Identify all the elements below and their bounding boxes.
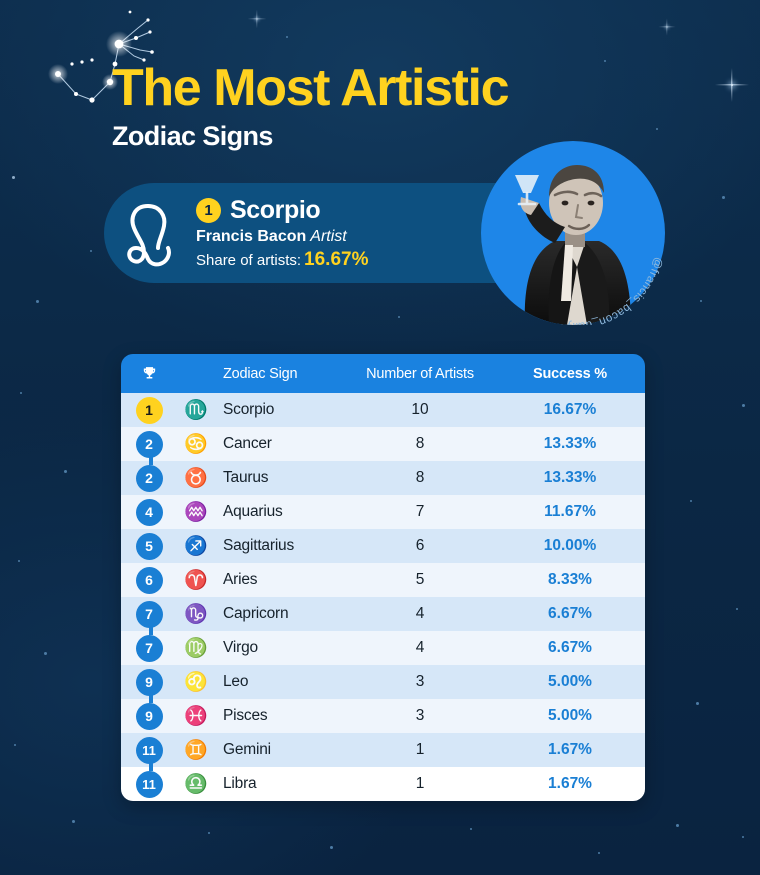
table-row[interactable]: 5♐Sagittarius610.00% [121,529,645,563]
pisces-glyph-icon: ♓ [177,707,215,726]
artist-count-cell: 3 [345,673,495,691]
rank-badge: 2 [136,465,163,492]
rank-badge: 5 [136,533,163,560]
scorpio-glyph-icon: ♏ [177,401,215,420]
aries-glyph-icon: ♈ [177,571,215,590]
success-pct-cell: 16.67% [495,401,645,419]
rank-cell: 2 [121,465,177,492]
taurus-glyph-icon: ♉ [177,469,215,488]
sign-name-cell: Aquarius [215,503,345,521]
artist-count-cell: 8 [345,435,495,453]
rank-badge: 2 [136,431,163,458]
rank-cell: 9 [121,669,177,696]
table-row[interactable]: 11♊Gemini11.67% [121,733,645,767]
sagittarius-glyph-icon: ♐ [177,537,215,556]
sign-name-cell: Virgo [215,639,345,657]
sign-name-cell: Taurus [215,469,345,487]
success-pct-cell: 5.00% [495,673,645,691]
cancer-glyph-icon: ♋ [177,435,215,454]
virgo-glyph-icon: ♍ [177,639,215,658]
rank-badge: 9 [136,669,163,696]
page-subtitle: Zodiac Signs [112,121,508,152]
tie-connector [149,763,153,771]
rank-badge: 4 [136,499,163,526]
page-header: The Most Artistic Zodiac Signs [112,62,508,152]
table-row[interactable]: 4♒Aquarius711.67% [121,495,645,529]
rank-cell: 7 [121,601,177,628]
aquarius-glyph-icon: ♒ [177,503,215,522]
rank-cell: 1 [121,397,177,424]
libra-glyph-icon: ♎ [177,775,215,794]
rank-badge: 7 [136,635,163,662]
table-body: 1♏Scorpio1016.67%2♋Cancer813.33%2♉Taurus… [121,393,645,801]
success-pct-cell: 1.67% [495,775,645,793]
artist-count-cell: 8 [345,469,495,487]
rank-badge: 11 [136,737,163,764]
rank-cell: 11 [121,737,177,764]
success-pct-cell: 13.33% [495,435,645,453]
infographic-canvas: The Most Artistic Zodiac Signs 1 Scorpio… [0,0,760,875]
artist-count-cell: 1 [345,741,495,759]
rank-cell: 6 [121,567,177,594]
table-row[interactable]: 6♈Aries58.33% [121,563,645,597]
table-header-row: Zodiac Sign Number of Artists Success % [121,354,645,393]
featured-share-label: Share of artists: [196,252,301,269]
success-pct-cell: 13.33% [495,469,645,487]
success-pct-cell: 1.67% [495,741,645,759]
featured-winner-text: 1 Scorpio Francis BaconArtist Share of a… [194,196,369,271]
rank-cell: 2 [121,431,177,458]
featured-share-value: 16.67% [304,249,368,270]
table-row[interactable]: 7♍Virgo46.67% [121,631,645,665]
tie-connector [149,627,153,635]
sign-name-cell: Capricorn [215,605,345,623]
featured-rank-badge: 1 [196,198,221,223]
success-pct-cell: 6.67% [495,605,645,623]
tie-connector [149,457,153,465]
success-pct-cell: 8.33% [495,571,645,589]
capricorn-glyph-icon: ♑ [177,605,215,624]
sign-name-cell: Pisces [215,707,345,725]
table-row[interactable]: 11♎Libra11.67% [121,767,645,801]
column-header-count: Number of Artists [345,366,495,382]
success-pct-cell: 11.67% [495,503,645,521]
column-header-sign: Zodiac Sign [215,366,345,382]
artist-count-cell: 4 [345,605,495,623]
success-pct-cell: 6.67% [495,639,645,657]
artist-count-cell: 1 [345,775,495,793]
ranking-table: Zodiac Sign Number of Artists Success % … [121,354,645,801]
leo-glyph-icon: ♌ [177,673,215,692]
sign-name-cell: Leo [215,673,345,691]
table-row[interactable]: 1♏Scorpio1016.67% [121,393,645,427]
table-row[interactable]: 9♓Pisces35.00% [121,699,645,733]
sign-name-cell: Scorpio [215,401,345,419]
artist-count-cell: 5 [345,571,495,589]
sign-name-cell: Cancer [215,435,345,453]
rank-badge: 11 [136,771,163,798]
gemini-glyph-icon: ♊ [177,741,215,760]
rank-cell: 11 [121,771,177,798]
sign-name-cell: Aries [215,571,345,589]
table-row[interactable]: 9♌Leo35.00% [121,665,645,699]
francis-bacon-portrait-illustration [481,141,665,325]
sign-name-cell: Sagittarius [215,537,345,555]
success-pct-cell: 5.00% [495,707,645,725]
featured-sign-name: Scorpio [230,196,320,225]
featured-person-name: Francis Bacon [196,228,306,245]
featured-portrait: @francis_bacon_daily [481,141,665,325]
rank-cell: 5 [121,533,177,560]
rank-cell: 7 [121,635,177,662]
rank-badge: 7 [136,601,163,628]
success-pct-cell: 10.00% [495,537,645,555]
column-header-pct: Success % [495,366,645,382]
table-row[interactable]: 2♉Taurus813.33% [121,461,645,495]
table-row[interactable]: 2♋Cancer813.33% [121,427,645,461]
portrait-disc [481,141,665,325]
rank-cell: 9 [121,703,177,730]
sign-name-cell: Libra [215,775,345,793]
tie-connector [149,695,153,703]
rank-cell: 4 [121,499,177,526]
artist-count-cell: 4 [345,639,495,657]
trophy-icon [121,365,177,382]
leo-glyph-icon [104,196,194,270]
artist-count-cell: 7 [345,503,495,521]
artist-count-cell: 3 [345,707,495,725]
featured-person-role: Artist [310,228,346,245]
rank-badge: 6 [136,567,163,594]
rank-badge: 1 [136,397,163,424]
rank-badge: 9 [136,703,163,730]
artist-count-cell: 10 [345,401,495,419]
table-row[interactable]: 7♑Capricorn46.67% [121,597,645,631]
sign-name-cell: Gemini [215,741,345,759]
artist-count-cell: 6 [345,537,495,555]
page-title: The Most Artistic [112,62,508,115]
